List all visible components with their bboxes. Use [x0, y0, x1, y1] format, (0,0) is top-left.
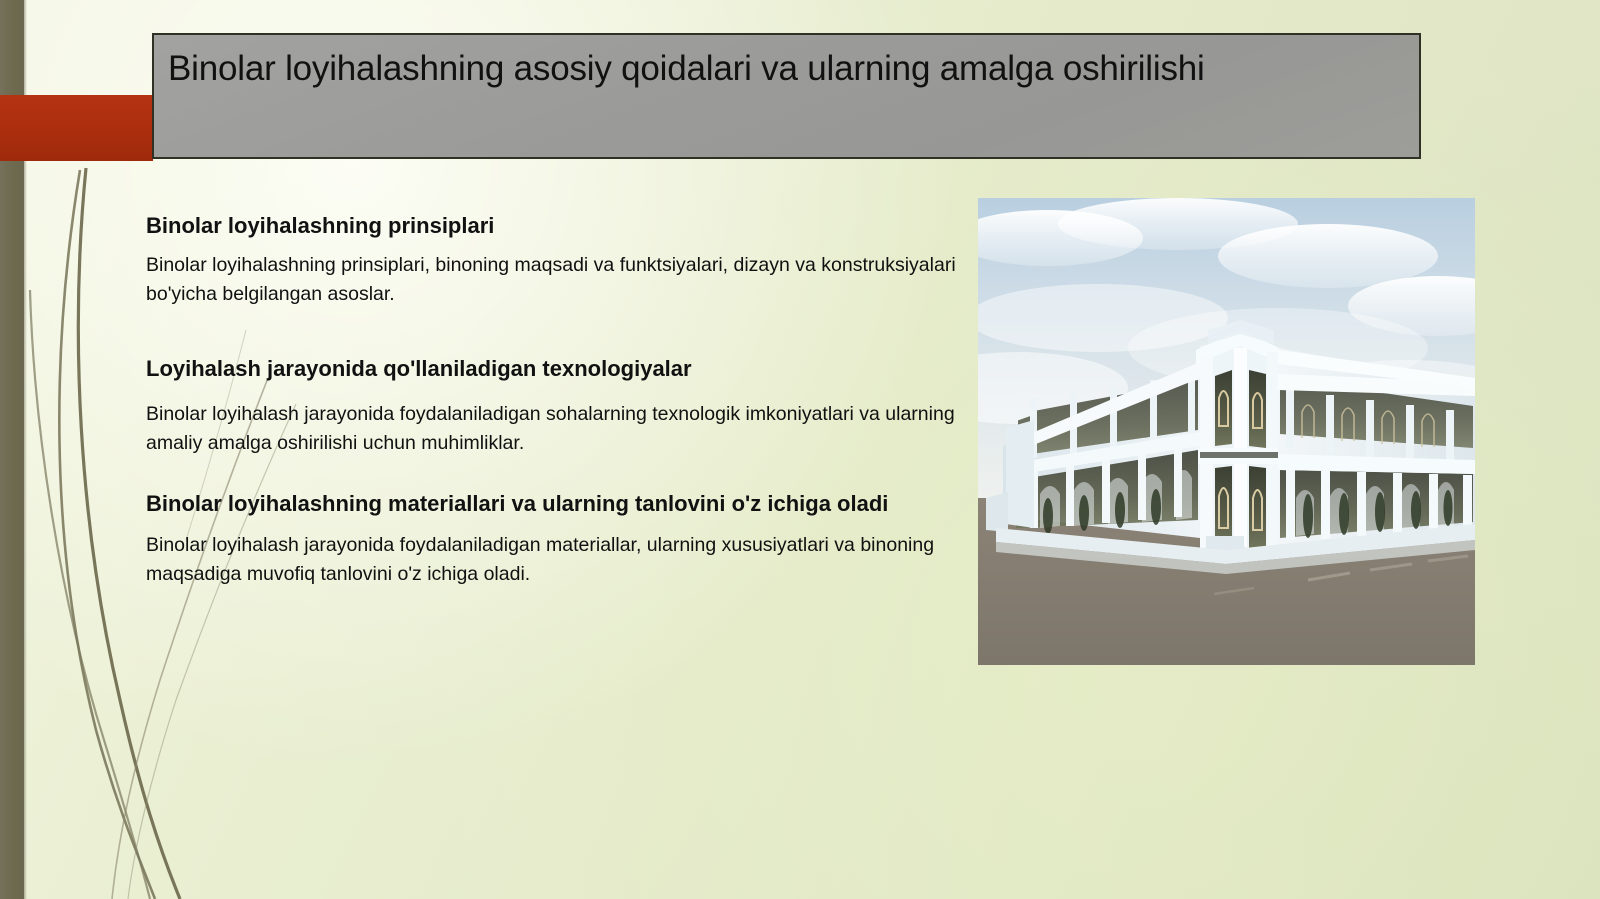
section-heading-1: Binolar loyihalashning prinsiplari [146, 210, 964, 241]
section-body-3: Binolar loyihalash jarayonida foydalanil… [146, 531, 964, 589]
section-body-1: Binolar loyihalashning prinsiplari, bino… [146, 251, 964, 309]
section-heading-2: Loyihalash jarayonida qo'llaniladigan te… [146, 353, 964, 384]
spacer [146, 519, 964, 531]
building-render-image [978, 198, 1475, 665]
presentation-slide: Binolar loyihalashning asosiy qoidalari … [0, 0, 1600, 899]
spacer [146, 458, 964, 488]
spacer [146, 384, 964, 400]
spacer [146, 241, 964, 251]
content-column: Binolar loyihalashning prinsiplari Binol… [146, 210, 964, 589]
section-heading-3: Binolar loyihalashning materiallari va u… [146, 488, 964, 519]
accent-bar [0, 95, 153, 161]
title-plate: Binolar loyihalashning asosiy qoidalari … [152, 33, 1421, 159]
spacer [146, 309, 964, 353]
section-body-2: Binolar loyihalash jarayonida foydalanil… [146, 400, 964, 458]
page-title: Binolar loyihalashning asosiy qoidalari … [168, 45, 1399, 92]
building-illustration-icon [978, 198, 1475, 665]
